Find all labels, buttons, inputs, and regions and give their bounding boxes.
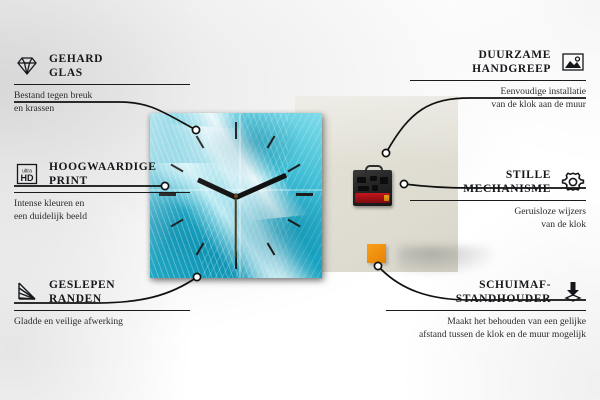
picture-frame-icon: [560, 49, 586, 75]
feature-description: Eenvoudige installatievan de klok aan de…: [410, 86, 586, 111]
feature-hoogwaardige-print: ultra HD HOOGWAARDIGEPRINT Intense kleur…: [14, 160, 190, 223]
product-infographic: GEHARDGLAS Bestand tegen breuken krassen…: [0, 0, 600, 400]
feature-title: DUURZAMEHANDGREEP: [472, 48, 551, 76]
feature-title: HOOGWAARDIGEPRINT: [49, 160, 157, 188]
feature-stille-mechanisme: STILLEMECHANISME Geruisloze wijzersvan d…: [410, 168, 586, 231]
feature-header: SCHUIMAF-STANDHOUDER: [386, 278, 586, 306]
feature-geslepen-randen: GESLEPENRANDEN Gladde en veilige afwerki…: [14, 278, 190, 329]
down-arrow-pad-icon: [560, 279, 586, 305]
feature-divider: [14, 84, 190, 85]
foam-spacer: [367, 244, 386, 263]
aa-battery: [355, 193, 390, 203]
feature-description: Bestand tegen breuken krassen: [14, 90, 190, 115]
feature-divider: [410, 200, 586, 201]
feature-divider: [14, 192, 190, 193]
feature-divider: [410, 80, 586, 81]
feature-header: STILLEMECHANISME: [410, 168, 586, 196]
gear-icon: [560, 169, 586, 195]
mechanism-slot-2: [370, 176, 377, 181]
feature-gehard-glas: GEHARDGLAS Bestand tegen breuken krassen: [14, 52, 190, 115]
diagonal-lines-icon: [14, 279, 40, 305]
feature-header: GESLEPENRANDEN: [14, 278, 190, 306]
mechanism-slot-4: [358, 186, 369, 191]
mechanism-slot-5: [372, 185, 378, 191]
diamond-icon: [14, 53, 40, 79]
clock-mechanism: [353, 170, 392, 206]
photo-shadow: [398, 246, 508, 280]
feature-header: DUURZAMEHANDGREEP: [410, 48, 586, 76]
feature-divider: [386, 310, 586, 311]
feature-divider: [14, 310, 190, 311]
feature-title: GESLEPENRANDEN: [49, 278, 115, 306]
feature-description: Gladde en veilige afwerking: [14, 316, 190, 328]
mechanism-slot-3: [380, 177, 388, 184]
feature-title: GEHARDGLAS: [49, 52, 103, 80]
feature-duurzame-handgreep: DUURZAMEHANDGREEP Eenvoudige installatie…: [410, 48, 586, 111]
feature-schuimafstandhouder: SCHUIMAF-STANDHOUDER Maakt het behouden …: [386, 278, 586, 341]
feature-description: Maakt het behouden van een gelijkeafstan…: [386, 316, 586, 341]
ultra-hd-icon: ultra HD: [14, 161, 40, 187]
mechanism-slot-1: [357, 177, 366, 183]
feature-description: Intense kleuren eneen duidelijk beeld: [14, 198, 190, 223]
feature-header: GEHARDGLAS: [14, 52, 190, 80]
mechanism-hanger: [365, 165, 383, 174]
feature-title: STILLEMECHANISME: [463, 168, 551, 196]
svg-text:HD: HD: [21, 173, 34, 183]
feature-header: ultra HD HOOGWAARDIGEPRINT: [14, 160, 190, 188]
feature-description: Geruisloze wijzersvan de klok: [410, 206, 586, 231]
feature-title: SCHUIMAF-STANDHOUDER: [456, 278, 551, 306]
